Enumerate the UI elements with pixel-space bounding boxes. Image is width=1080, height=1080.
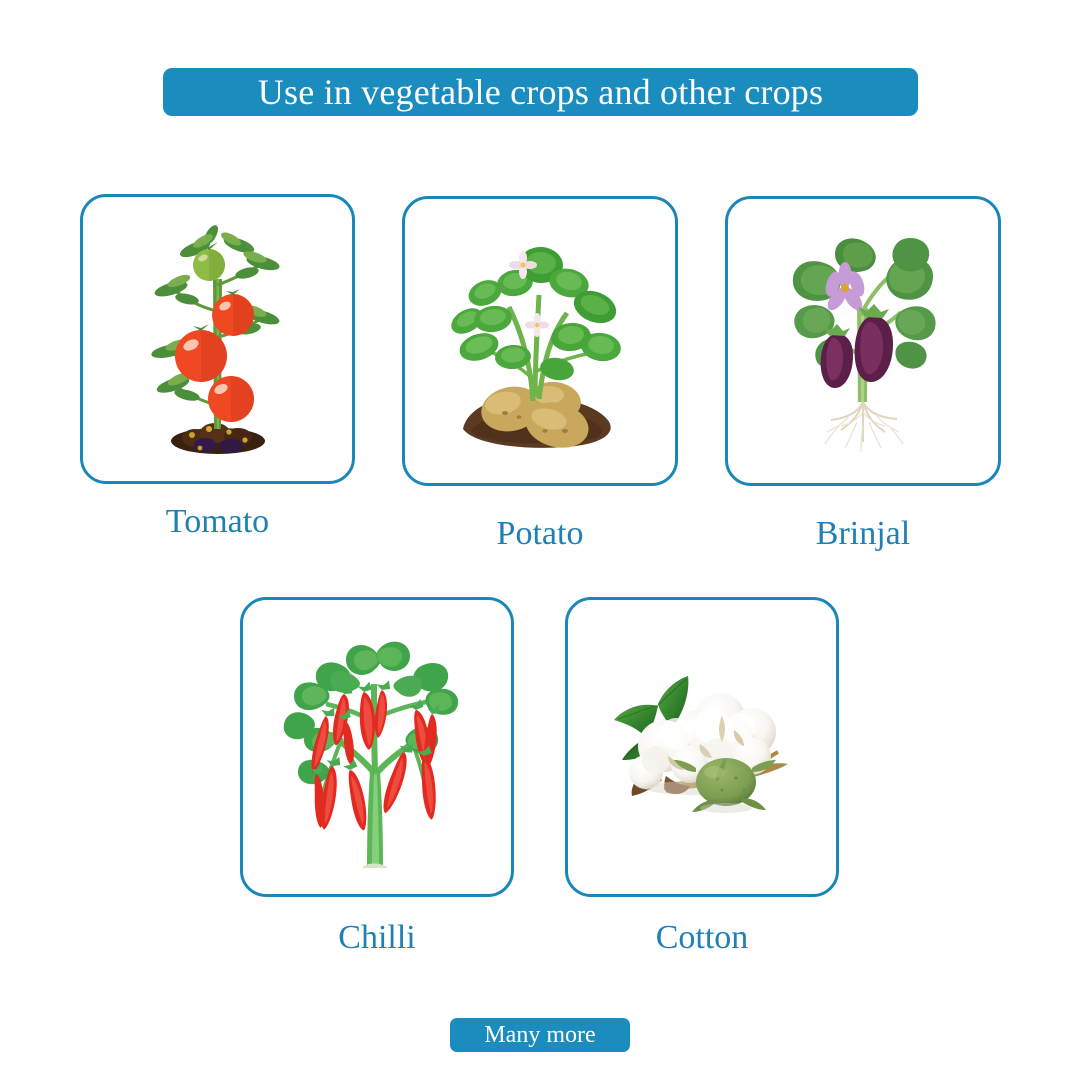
crop-card-cotton[interactable] xyxy=(565,597,839,897)
crop-card-brinjal[interactable] xyxy=(725,196,1001,486)
crop-card-chilli[interactable] xyxy=(240,597,514,897)
poster-canvas: Use in vegetable crops and other crops xyxy=(0,0,1080,1080)
page-title: Use in vegetable crops and other crops xyxy=(258,74,823,110)
crop-card-tomato[interactable] xyxy=(80,194,355,484)
potato-plant-illustration xyxy=(405,199,675,483)
crop-label-chilli: Chilli xyxy=(240,921,514,955)
tomato-plant-illustration xyxy=(83,197,352,481)
brinjal-plant-illustration xyxy=(728,199,998,483)
crop-card-potato[interactable] xyxy=(402,196,678,486)
many-more-label: Many more xyxy=(484,1023,595,1047)
cotton-boll-photo xyxy=(568,600,836,894)
chilli-plant-illustration xyxy=(243,600,511,894)
page-title-banner: Use in vegetable crops and other crops xyxy=(163,68,918,116)
crop-label-tomato: Tomato xyxy=(80,505,355,539)
crop-label-potato: Potato xyxy=(402,517,678,551)
crop-label-brinjal: Brinjal xyxy=(725,517,1001,551)
many-more-button[interactable]: Many more xyxy=(450,1018,630,1052)
crop-label-cotton: Cotton xyxy=(565,921,839,955)
